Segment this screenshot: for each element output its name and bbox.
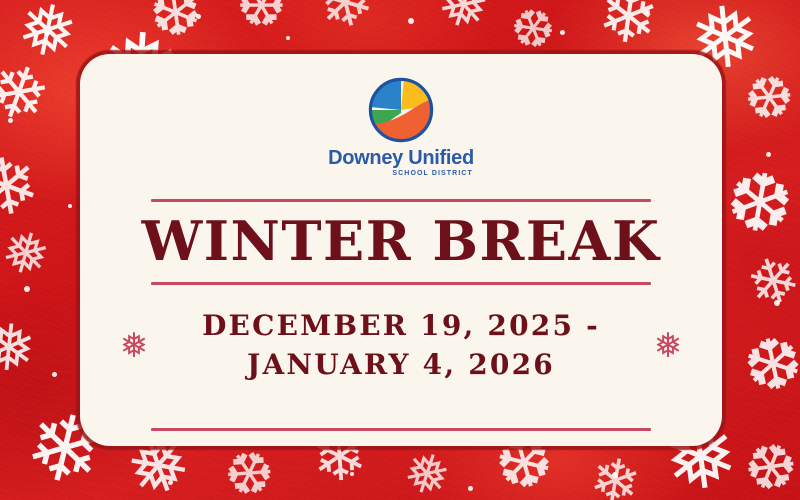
snow-dot (468, 486, 473, 491)
snow-dot (168, 480, 173, 485)
divider-rule-top (151, 199, 651, 202)
snow-dot (560, 30, 565, 35)
snow-dot (646, 10, 650, 14)
downey-unified-circle-logo-icon (365, 74, 437, 146)
snow-dot (24, 286, 30, 292)
page-title: WINTER BREAK (142, 214, 661, 268)
snowflake-icon-left: ❅ (102, 329, 166, 363)
snow-dot (68, 204, 72, 208)
divider-rule-middle (151, 282, 651, 285)
snow-dot (408, 18, 414, 24)
snow-dot (738, 214, 742, 218)
snow-dot (8, 118, 13, 123)
date-range-line-1: DECEMBER 19, 2025 - (166, 307, 636, 346)
winter-break-poster: ❅❆❄❅❆❄❅❆❄❅❆❄❅❆❄❅❆❄❅❆❄❅❆❄❅❆ (0, 0, 800, 500)
snow-dot (766, 152, 771, 157)
logo-district-subtitle: SCHOOL DISTRICT (392, 170, 473, 177)
date-range-line-2: JANUARY 4, 2026 (166, 346, 636, 385)
district-logo: Downey Unified SCHOOL DISTRICT (328, 74, 474, 177)
snowflake-icon-right: ❅ (636, 329, 700, 363)
content-card: Downey Unified SCHOOL DISTRICT WINTER BR… (80, 54, 722, 446)
snow-dot (52, 372, 57, 377)
snow-dot (286, 36, 290, 40)
logo-wordmark: Downey Unified SCHOOL DISTRICT (328, 148, 474, 177)
snow-dot (774, 300, 780, 306)
snow-dot (350, 472, 354, 476)
logo-district-name: Downey Unified (328, 148, 474, 168)
divider-rule-bottom (151, 428, 651, 431)
snow-dot (612, 472, 618, 478)
snow-dot (44, 30, 50, 36)
snow-dot (196, 14, 201, 19)
date-range: DECEMBER 19, 2025 - JANUARY 4, 2026 (166, 307, 636, 384)
date-range-row: ❅ DECEMBER 19, 2025 - JANUARY 4, 2026 ❅ (80, 307, 722, 384)
